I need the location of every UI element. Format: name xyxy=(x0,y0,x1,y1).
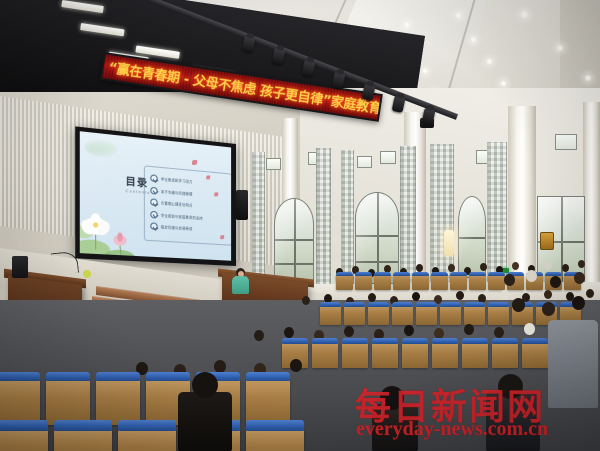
presenter-body xyxy=(232,276,249,294)
tennis-ball-object xyxy=(83,270,91,278)
list-bullet-icon xyxy=(150,175,157,183)
arched-window xyxy=(274,198,314,284)
ceiling-downlight xyxy=(500,80,507,87)
audience-head xyxy=(526,270,537,282)
audience-person xyxy=(372,404,418,451)
audience-head xyxy=(512,298,525,312)
audience-head xyxy=(368,293,376,302)
transom-window xyxy=(380,151,396,164)
audience-person xyxy=(178,392,232,451)
audience-head xyxy=(380,386,404,410)
audience-head xyxy=(504,274,515,286)
wall-sconce xyxy=(444,230,454,256)
slide-surface: 目录 Contents 学业焦虑和学习动力 亲子沟通与情绪管理 青春期心理变化特… xyxy=(80,131,231,261)
audience-head xyxy=(284,327,294,338)
audience-head xyxy=(574,272,585,284)
audience-head xyxy=(448,264,455,272)
audience-head xyxy=(404,325,414,336)
ceiling-downlight xyxy=(404,22,410,28)
ceiling-downlight xyxy=(422,68,428,74)
audience-head xyxy=(542,302,555,316)
petal-decoration-icon xyxy=(192,160,197,166)
audience-head xyxy=(302,296,310,305)
transom-window xyxy=(266,158,281,170)
lotus-illustration xyxy=(80,199,144,261)
ceiling-downlight xyxy=(584,74,592,82)
list-bullet-icon xyxy=(150,211,157,219)
stage-chair xyxy=(12,256,28,278)
audience-head xyxy=(550,276,561,288)
petal-decoration-icon xyxy=(220,235,224,239)
transom-window xyxy=(555,134,577,150)
audience-head xyxy=(192,372,218,398)
presenter xyxy=(232,268,249,294)
audience-head xyxy=(480,263,487,271)
wall-emblem xyxy=(540,232,554,250)
checkered-curtain xyxy=(252,152,265,284)
list-bullet-icon xyxy=(150,223,157,231)
audience-head xyxy=(498,374,523,399)
audience-head xyxy=(254,330,264,341)
ceiling-downlight xyxy=(455,12,462,19)
list-bullet-icon xyxy=(150,199,157,207)
transom-window xyxy=(357,156,372,168)
audience-head xyxy=(572,296,585,310)
audience-head xyxy=(456,291,464,300)
ceiling-downlight xyxy=(520,10,529,19)
audience-head xyxy=(464,324,474,335)
auditorium-photo: 目录 Contents 学业焦虑和学习动力 亲子沟通与情绪管理 青春期心理变化特… xyxy=(0,0,600,451)
projection-screen: 目录 Contents 学业焦虑和学习动力 亲子沟通与情绪管理 青春期心理变化特… xyxy=(75,126,236,266)
ceiling-downlight xyxy=(486,58,493,65)
audience-block-right xyxy=(500,268,600,338)
wall-speaker xyxy=(236,190,248,220)
ceiling-downlight xyxy=(470,36,477,43)
ceiling-downlight xyxy=(556,44,564,52)
cloud-decoration-icon xyxy=(84,138,117,158)
audience-head xyxy=(416,264,423,272)
slide-contents-list: 学业焦虑和学习动力 亲子沟通与情绪管理 青春期心理变化特点 学业规划与家庭教育的… xyxy=(150,172,231,237)
audience-head xyxy=(578,260,585,268)
audience-head xyxy=(412,292,420,301)
checkered-curtain xyxy=(316,148,331,288)
list-bullet-icon xyxy=(150,187,157,195)
petal-decoration-icon xyxy=(214,192,218,196)
audience-head xyxy=(344,326,354,337)
audience-person xyxy=(486,392,540,451)
petal-decoration-icon xyxy=(206,175,210,179)
audience-head xyxy=(290,359,302,372)
